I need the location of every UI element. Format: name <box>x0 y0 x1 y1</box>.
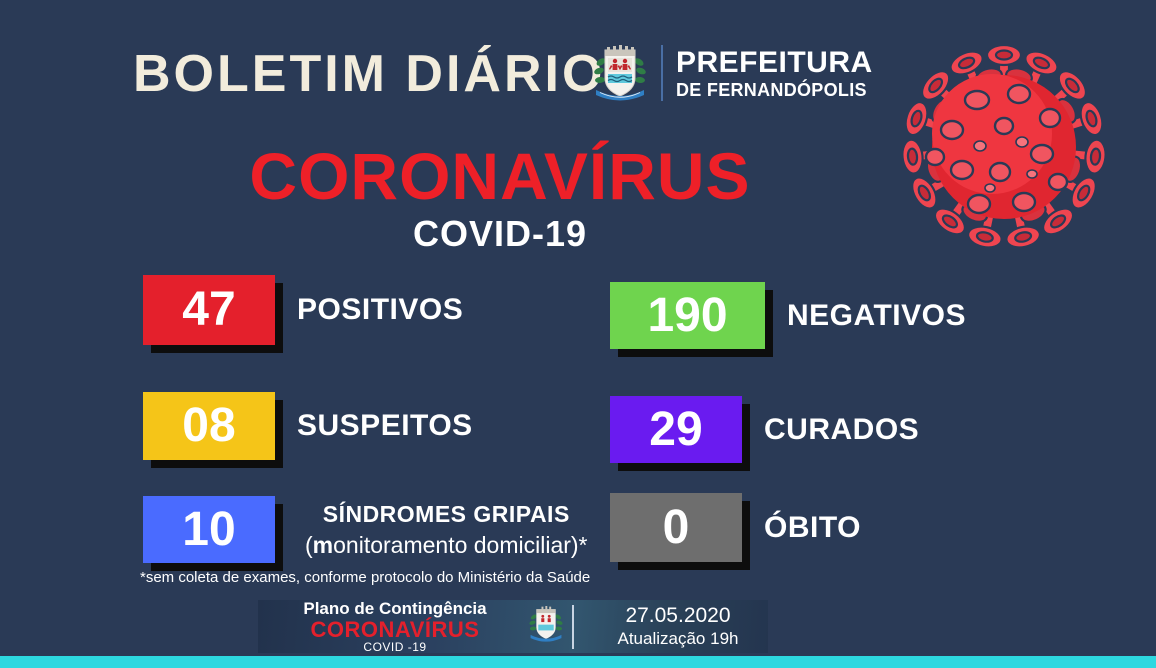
bottom-bar-date-block: 27.05.2020 Atualização 19h <box>588 604 768 649</box>
stat-box-curados: 29 <box>610 396 742 463</box>
stat-label-suspeitos: SUSPEITOS <box>297 409 473 443</box>
stat-label-negativos: NEGATIVOS <box>787 299 966 333</box>
brand-divider <box>661 45 663 101</box>
bulletin-update-time: Atualização 19h <box>588 629 768 649</box>
page-title: BOLETIM DIÁRIO <box>133 44 605 104</box>
stat-negativos: 190 NEGATIVOS <box>610 282 966 349</box>
stat-value-suspeitos: 08 <box>182 402 235 450</box>
stat-box-obito: 0 <box>610 493 742 562</box>
stat-box-suspeitos: 08 <box>143 392 275 460</box>
bottom-accent-strip <box>0 656 1156 668</box>
stat-label-sindromes-line2: (monitoramento domiciliar)* <box>305 532 588 559</box>
stat-box-negativos: 190 <box>610 282 765 349</box>
stat-label-curados: CURADOS <box>764 413 919 447</box>
sg-bold-m: m <box>313 532 333 558</box>
bottom-bar: Plano de Contingência CORONAVÍRUS COVID … <box>258 600 768 653</box>
brand-text: PREFEITURA DE FERNANDÓPOLIS <box>676 48 873 99</box>
prefeitura-logo: PREFEITURA DE FERNANDÓPOLIS <box>592 41 873 105</box>
stat-suspeitos: 08 SUSPEITOS <box>143 392 473 460</box>
brand-line-municipality: DE FERNANDÓPOLIS <box>676 81 873 99</box>
stat-obito: 0 ÓBITO <box>610 493 861 562</box>
brand-line-prefeitura: PREFEITURA <box>676 48 873 78</box>
stat-value-obito: 0 <box>663 504 690 552</box>
sg-paren-open: ( <box>305 532 313 558</box>
stat-label-positivos: POSITIVOS <box>297 293 463 327</box>
stat-label-obito: ÓBITO <box>764 511 861 545</box>
stat-box-positivos: 47 <box>143 275 275 345</box>
bulletin-canvas: BOLETIM DIÁRIO <box>0 0 1156 668</box>
footnote: *sem coleta de exames, conforme protocol… <box>140 569 590 586</box>
plan-title: Plano de Contingência <box>264 600 526 618</box>
stat-box-sindromes: 10 <box>143 496 275 563</box>
coat-of-arms-icon <box>592 42 648 104</box>
stat-value-negativos: 190 <box>647 292 727 340</box>
coronavirus-heading: CORONAVÍRUS <box>0 138 1000 214</box>
bottom-bar-plan: Plano de Contingência CORONAVÍRUS COVID … <box>258 600 526 653</box>
stat-curados: 29 CURADOS <box>610 396 919 463</box>
stat-value-curados: 29 <box>649 406 702 454</box>
stat-value-positivos: 47 <box>182 286 235 334</box>
bulletin-date: 27.05.2020 <box>588 604 768 629</box>
stat-sindromes-gripais: 10 SÍNDROMES GRIPAIS (monitoramento domi… <box>143 496 588 563</box>
stat-label-sindromes-line1: SÍNDROMES GRIPAIS <box>305 501 588 528</box>
coat-of-arms-icon <box>528 603 564 650</box>
sg-rest: onitoramento domiciliar)* <box>333 532 587 558</box>
stat-value-sindromes: 10 <box>182 506 235 554</box>
stat-positivos: 47 POSITIVOS <box>143 275 463 345</box>
plan-covid: COVID -19 <box>264 641 526 653</box>
covid-subheading: COVID-19 <box>0 213 1000 255</box>
bottom-bar-divider <box>572 605 574 649</box>
stat-label-sindromes: SÍNDROMES GRIPAIS (monitoramento domicil… <box>305 501 588 559</box>
plan-coronavirus: CORONAVÍRUS <box>264 618 526 641</box>
